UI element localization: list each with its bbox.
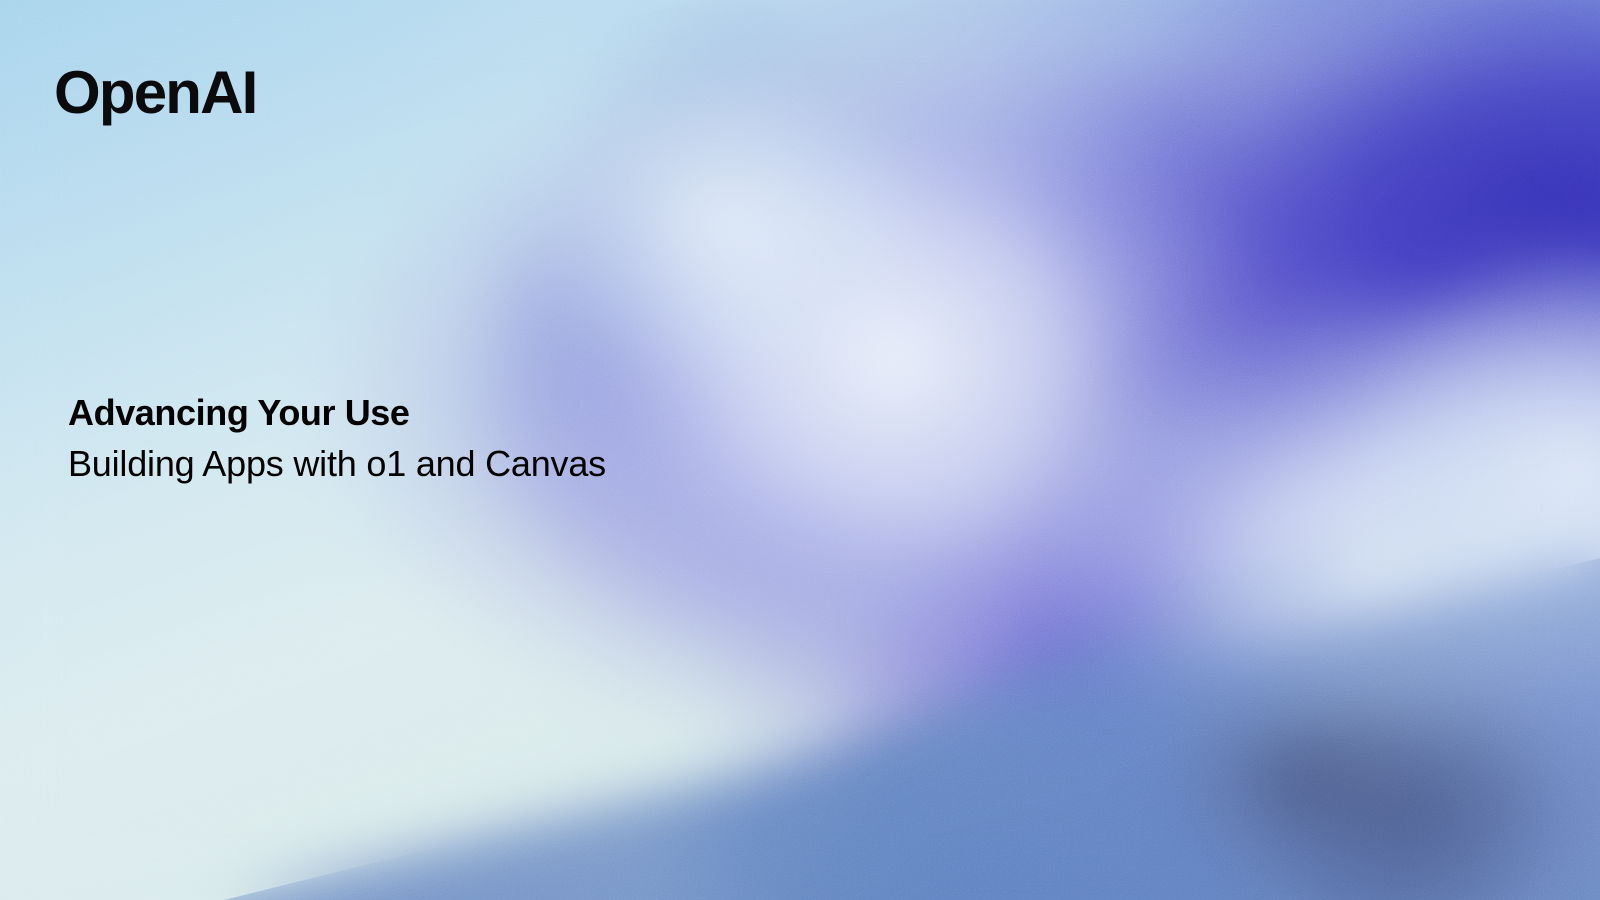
openai-wordmark: OpenAI (54, 63, 257, 123)
slide-content: OpenAI Advancing Your Use Building Apps … (0, 0, 1600, 900)
presentation-slide: OpenAI Advancing Your Use Building Apps … (0, 0, 1600, 900)
slide-subtitle: Building Apps with o1 and Canvas (68, 438, 606, 490)
title-block: Advancing Your Use Building Apps with o1… (68, 388, 606, 490)
slide-title: Advancing Your Use (68, 388, 606, 438)
